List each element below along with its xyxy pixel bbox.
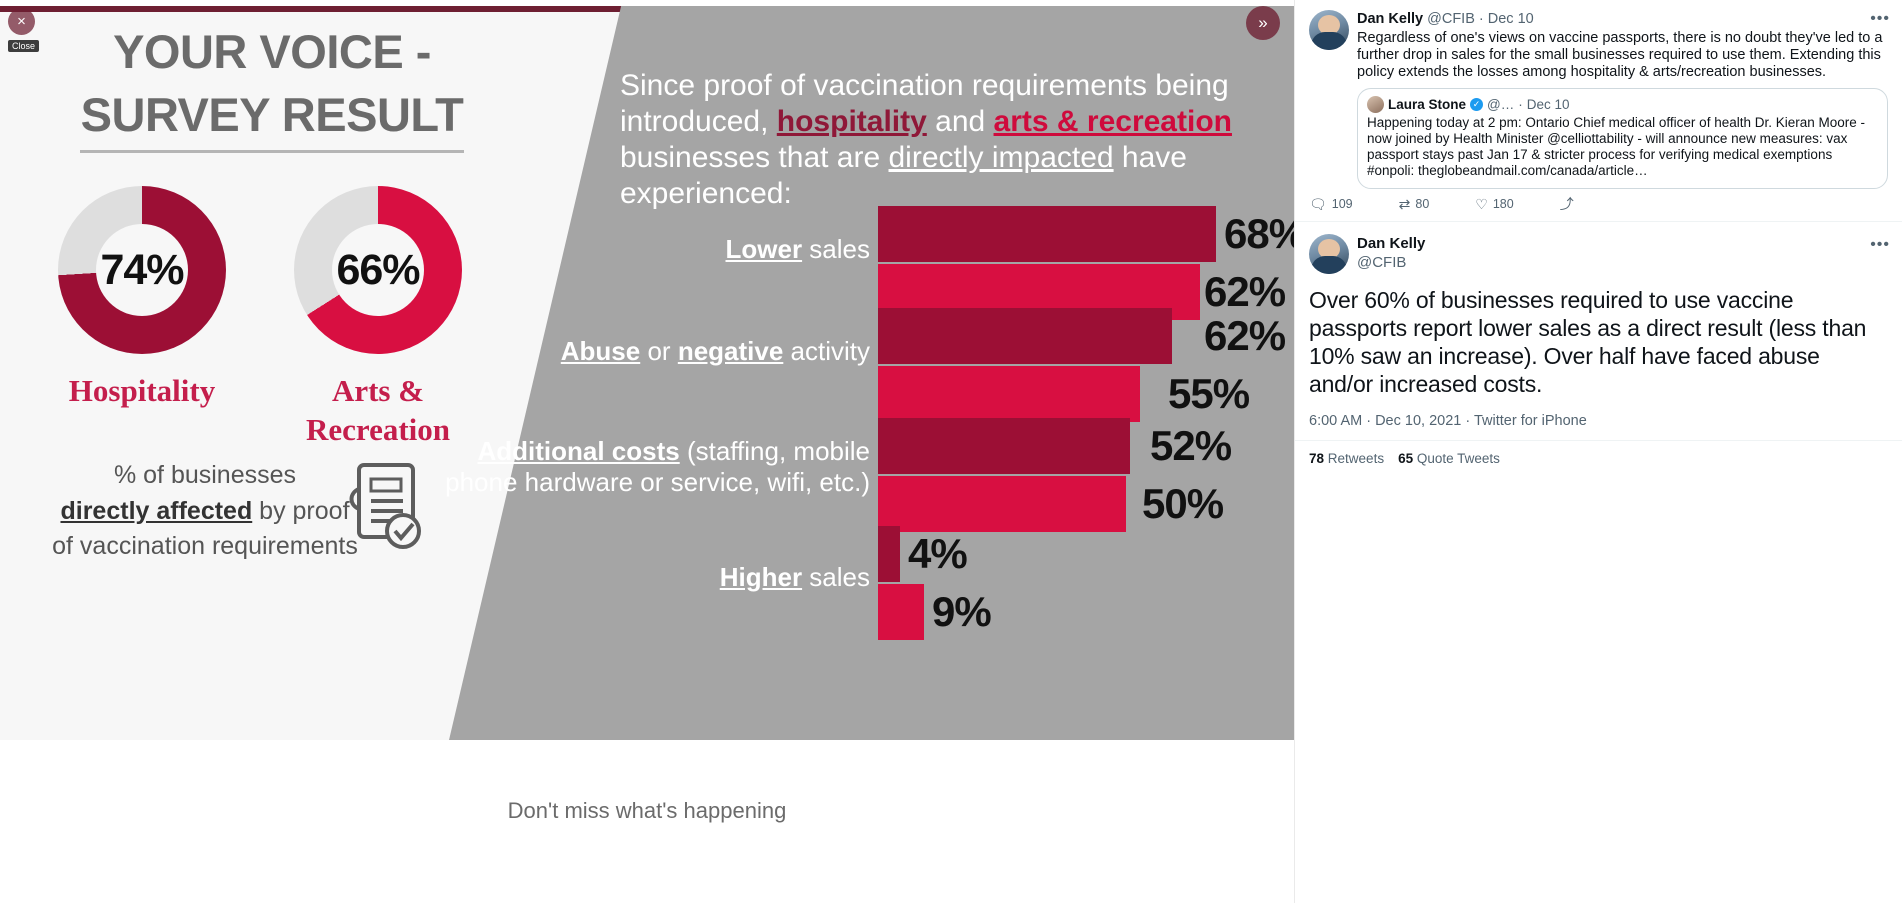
bar-label-additional-costs-line2: phone hardware or service, wifi, etc.) (445, 467, 870, 498)
bar-label-emphasis: Abuse (561, 336, 640, 366)
bar-value-abuse-hospitality: 62% (1204, 308, 1285, 364)
infographic-slide: YOUR VOICE - SURVEY RESULT 74% Hospitali… (0, 6, 1294, 740)
bar-label-higher-sales: Higher sales (720, 562, 870, 593)
tweet-stats: 78 Retweets 65 Quote Tweets (1295, 440, 1902, 466)
headline-hospitality: hospitality (777, 105, 927, 138)
reply-action[interactable]: 🗨 109 (1309, 197, 1353, 211)
bar-value-abuse-arts: 55% (1168, 366, 1249, 422)
chart-headline-line1: Since proof of vaccination requirements … (620, 68, 1285, 104)
more-options-icon[interactable]: ••• (1870, 10, 1890, 28)
bar-label-emphasis: Lower (726, 234, 803, 264)
bar-value-higher-sales-arts: 9% (932, 584, 991, 640)
bar-label-emphasis: Higher (720, 562, 802, 592)
bar-label-mid: or (640, 336, 678, 366)
avatar[interactable] (1309, 234, 1349, 274)
quoted-author-name: Laura Stone (1388, 97, 1466, 112)
reply-icon: 🗨 (1309, 197, 1327, 211)
tweet-sidebar: ••• Dan Kelly @CFIB · Dec 10 Regardless … (1294, 0, 1902, 903)
retweets-label: Retweets (1328, 451, 1384, 466)
headline-part3: businesses that are (620, 141, 889, 174)
bar-value-higher-sales-hospitality: 4% (908, 526, 967, 582)
tweet-author-name[interactable]: Dan Kelly (1357, 234, 1888, 253)
tweet-actions: 🗨 109 ⇄ 80 ♡ 180 ⤴ (1295, 189, 1902, 221)
quoted-tweet[interactable]: Laura Stone ✓ @… · Dec 10 Happening toda… (1357, 88, 1888, 189)
tweet-text: Regardless of one's views on vaccine pas… (1357, 30, 1888, 81)
avatar (1367, 96, 1384, 113)
bar-value-additional-costs-arts: 50% (1142, 476, 1223, 532)
retweet-icon: ⇄ (1399, 197, 1411, 211)
like-count: 180 (1493, 197, 1514, 211)
bar-higher-sales-hospitality (878, 526, 900, 582)
tweet-author-handle[interactable]: @CFIB (1427, 11, 1475, 27)
chart-headline-line3: businesses that are directly impacted ha… (620, 140, 1285, 212)
quoted-tweet-header: Laura Stone ✓ @… · Dec 10 (1367, 96, 1878, 113)
bar-label-rest: sales (802, 234, 870, 264)
tweet-focused: ••• Dan Kelly @CFIB Over 60% of business… (1295, 222, 1902, 430)
bar-label-lower-sales: Lower sales (726, 234, 871, 265)
like-icon: ♡ (1475, 197, 1488, 211)
tweet-author-handle[interactable]: @CFIB (1357, 253, 1888, 272)
headline-directly-impacted: directly impacted (889, 141, 1114, 174)
bar-label-emphasis2: negative (678, 336, 784, 366)
chart-headline: Since proof of vaccination requirements … (620, 68, 1285, 212)
bar-label-rest: sales (802, 562, 870, 592)
quote-tweets-count: 65 (1398, 451, 1413, 466)
reply-count: 109 (1332, 197, 1353, 211)
bar-label-abuse: Abuse or negative activity (561, 336, 870, 367)
retweets-stat[interactable]: 78 Retweets (1309, 451, 1384, 466)
quoted-tweet-date: Dec 10 (1527, 97, 1570, 112)
bar-label-rest: activity (783, 336, 870, 366)
share-action[interactable]: ⤴ (1560, 197, 1574, 211)
bar-label-additional-costs: Additional costs (staffing, mobile phone… (445, 436, 870, 498)
bar-additional-costs-hospitality (878, 418, 1130, 474)
next-media-icon[interactable]: » (1246, 6, 1280, 40)
retweets-count: 78 (1309, 451, 1324, 466)
bar-higher-sales-arts (878, 584, 924, 640)
tweet-author-line: Dan Kelly @CFIB · Dec 10 (1357, 10, 1888, 29)
tweet-date[interactable]: Dec 10 (1488, 11, 1534, 27)
more-options-icon[interactable]: ••• (1870, 236, 1890, 254)
share-icon: ⤴ (1560, 197, 1574, 211)
bar-additional-costs-arts (878, 476, 1126, 532)
quote-tweets-stat[interactable]: 65 Quote Tweets (1398, 451, 1500, 466)
bar-value-additional-costs-hospitality: 52% (1150, 418, 1231, 474)
tweet-author-name[interactable]: Dan Kelly (1357, 11, 1423, 27)
tweet-text: Over 60% of businesses required to use v… (1309, 286, 1888, 398)
bar-abuse-hospitality (878, 308, 1172, 364)
avatar[interactable] (1309, 10, 1349, 50)
retweet-count: 80 (1415, 197, 1429, 211)
quoted-author-handle: @… (1487, 97, 1514, 112)
like-action[interactable]: ♡ 180 (1475, 197, 1513, 211)
headline-arts: arts & recreation (994, 105, 1232, 138)
tweet-timestamp-meta: 6:00 AM · Dec 10, 2021 · Twitter for iPh… (1309, 412, 1888, 430)
quoted-tweet-text: Happening today at 2 pm: Ontario Chief m… (1367, 115, 1878, 179)
headline-and: and (927, 105, 994, 138)
bar-lower-sales-hospitality (878, 206, 1216, 262)
bar-value-lower-sales-hospitality: 68% (1224, 206, 1294, 262)
media-viewer: YOUR VOICE - SURVEY RESULT 74% Hospitali… (0, 0, 1294, 903)
quote-tweets-label: Quote Tweets (1417, 451, 1500, 466)
close-icon[interactable]: × (8, 8, 35, 35)
bar-label-rest: (staffing, mobile (680, 436, 870, 466)
close-tooltip: Close (8, 40, 39, 52)
bar-abuse-arts (878, 366, 1140, 422)
bar-label-emphasis: Additional costs (477, 436, 679, 466)
headline-intro: introduced, (620, 105, 777, 138)
tweet-primary[interactable]: ••• Dan Kelly @CFIB · Dec 10 Regardless … (1295, 0, 1902, 189)
retweet-action[interactable]: ⇄ 80 (1399, 197, 1430, 211)
verified-badge-icon: ✓ (1470, 98, 1483, 111)
chart-headline-line2: introduced, hospitality and arts & recre… (620, 104, 1285, 140)
page-bottom-text: Don't miss what's happening (0, 798, 1294, 824)
